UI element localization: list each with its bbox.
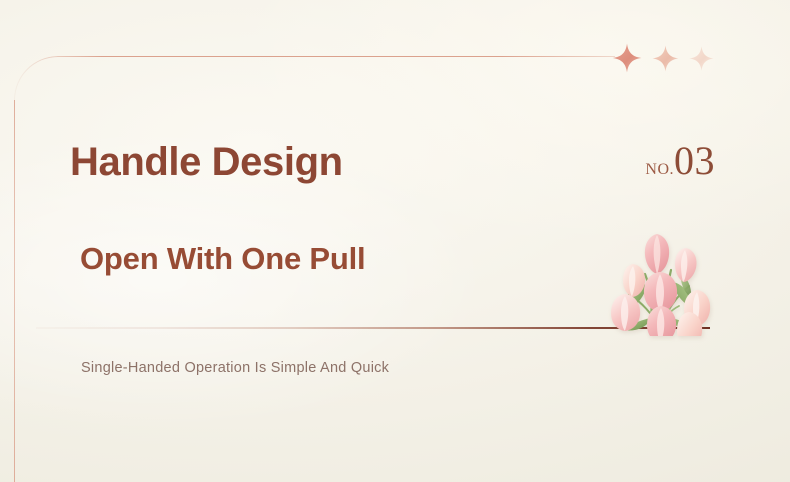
sparkle-3-icon (689, 46, 714, 71)
tulip-bouquet-illustration (601, 224, 721, 336)
page-subtitle: Open With One Pull (80, 241, 365, 277)
section-number: NO. 03 (645, 141, 715, 181)
slide-canvas: Handle Design NO. 03 Open With One Pull (0, 0, 790, 482)
sparkle-cluster (612, 38, 730, 78)
blurred-hand-photo (288, 386, 588, 482)
section-number-value: 03 (674, 141, 715, 181)
decorative-frame-left-edge (14, 100, 15, 460)
page-caption: Single-Handed Operation Is Simple And Qu… (81, 360, 389, 376)
section-number-prefix: NO. (645, 161, 674, 179)
sparkle-2-icon (652, 45, 679, 72)
divider-line (36, 327, 710, 329)
sparkle-1-icon (612, 43, 642, 73)
page-title: Handle Design (70, 140, 343, 185)
